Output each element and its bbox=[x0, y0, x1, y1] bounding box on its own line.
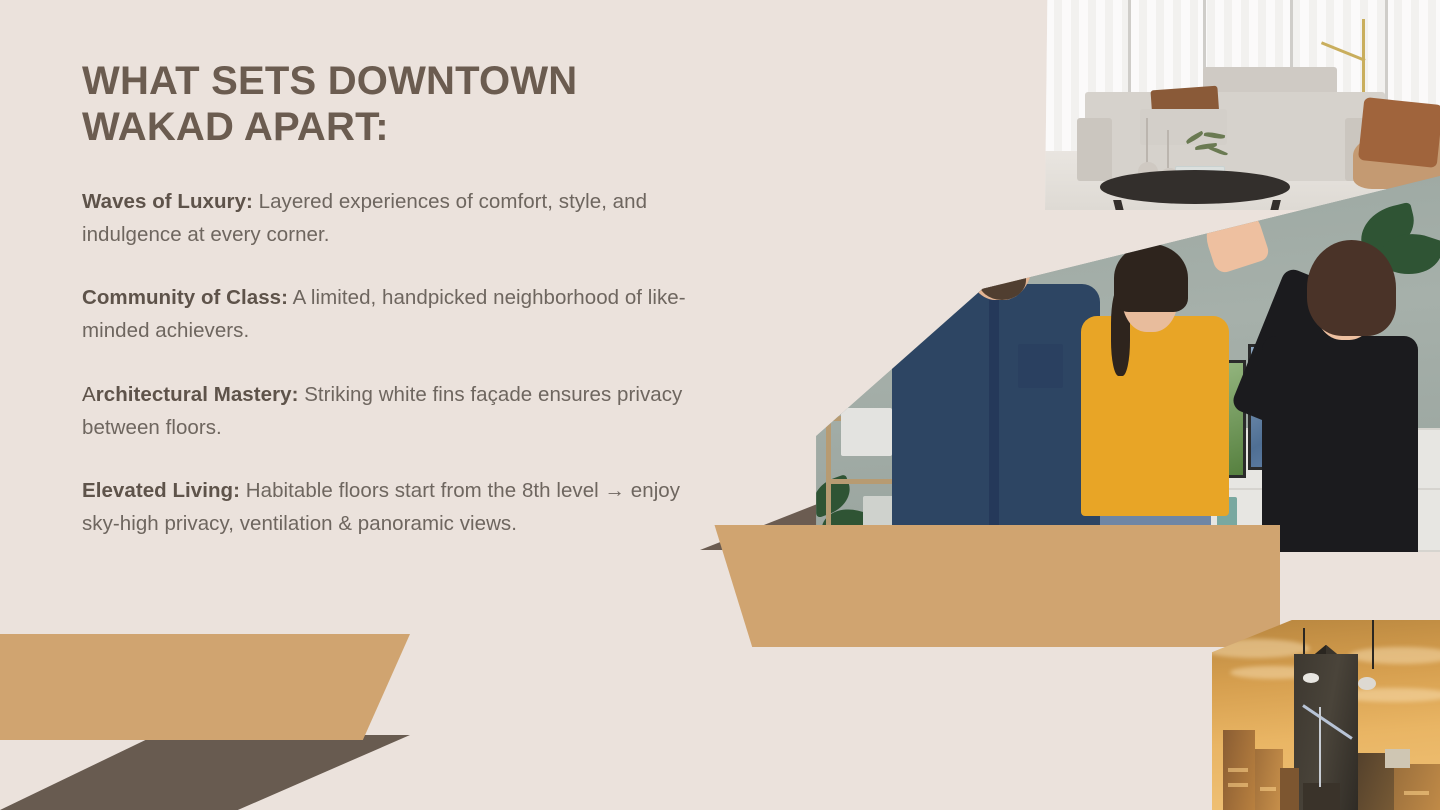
oval-coffee-table bbox=[1100, 170, 1290, 204]
city-scene bbox=[1212, 620, 1440, 810]
woman-yellow-sweater bbox=[1081, 316, 1229, 516]
building bbox=[1303, 783, 1339, 810]
people-scene bbox=[700, 152, 1440, 552]
man-hair bbox=[955, 194, 1044, 274]
building bbox=[1280, 768, 1298, 810]
building bbox=[1255, 749, 1282, 810]
table-lamp bbox=[841, 408, 893, 456]
sofa-armrest-left bbox=[1077, 118, 1113, 181]
woman-hair bbox=[1114, 244, 1188, 312]
tan-band-center-right bbox=[700, 525, 1280, 647]
leaf bbox=[1185, 131, 1204, 144]
couple-with-agent-photo bbox=[700, 152, 1440, 552]
building bbox=[1394, 764, 1440, 810]
construction-crane-mast bbox=[1319, 707, 1321, 787]
lit-window bbox=[1228, 783, 1249, 787]
page-title: WHAT SETS DOWNTOWN WAKAD APART: bbox=[82, 58, 722, 151]
bullet-waves-of-luxury: Waves of Luxury: Layered experiences of … bbox=[82, 185, 707, 251]
leaf bbox=[1203, 131, 1224, 140]
text-column: WHAT SETS DOWNTOWN WAKAD APART: Waves of… bbox=[82, 58, 722, 540]
sofa bbox=[1085, 92, 1385, 180]
candle-stick bbox=[1146, 118, 1148, 164]
shirt-placket bbox=[989, 296, 999, 552]
bullet-lead: Waves of Luxury: bbox=[82, 190, 253, 213]
olive-branch-plant bbox=[1179, 132, 1234, 170]
bullet-community-of-class: Community of Class: A limited, handpicke… bbox=[82, 281, 707, 347]
leather-cushion bbox=[1358, 97, 1440, 168]
bullet-architectural-mastery: Architectural Mastery: Striking white fi… bbox=[82, 378, 707, 444]
lit-window bbox=[1260, 787, 1276, 791]
leaf bbox=[1208, 145, 1228, 157]
building bbox=[1385, 749, 1410, 768]
presentation-slide: WHAT SETS DOWNTOWN WAKAD APART: Waves of… bbox=[0, 0, 1440, 810]
bullet-lead-prefix: A bbox=[82, 383, 96, 406]
candle-stick bbox=[1167, 130, 1169, 168]
cloud bbox=[1349, 647, 1440, 664]
bullet-lead: Community of Class: bbox=[82, 286, 288, 309]
bullet-lead: Elevated Living: bbox=[82, 479, 240, 502]
lit-window bbox=[1228, 768, 1249, 772]
brown-parallelogram-bottom-left bbox=[0, 735, 410, 810]
agent-black-blazer bbox=[1262, 336, 1417, 552]
living-room-photo bbox=[1045, 0, 1440, 210]
tower-logo bbox=[1303, 673, 1319, 683]
bullet-lead: rchitectural Mastery: bbox=[96, 383, 299, 406]
living-room-scene bbox=[1045, 0, 1440, 210]
man-beard bbox=[978, 260, 1026, 300]
tan-parallelogram-bottom-left bbox=[0, 634, 410, 740]
lit-window bbox=[1404, 791, 1429, 795]
antenna-spire bbox=[1372, 620, 1374, 669]
bullet-elevated-living: Elevated Living: Habitable floors start … bbox=[82, 474, 707, 540]
city-skyline-photo bbox=[1212, 620, 1440, 810]
shirt-pocket bbox=[1018, 344, 1062, 388]
agent-hair bbox=[1307, 240, 1396, 336]
